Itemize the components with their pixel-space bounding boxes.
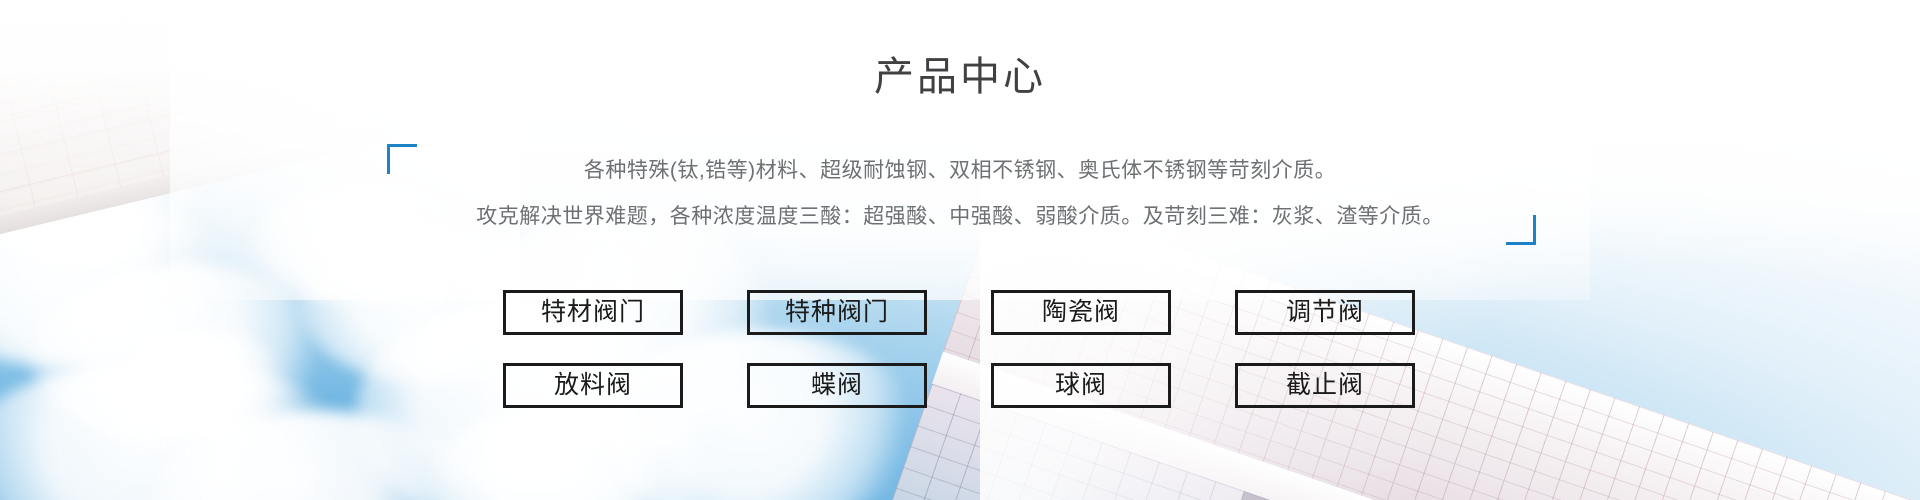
category-button-taoci-fa[interactable]: 陶瓷阀: [991, 290, 1171, 335]
description-line-2: 攻克解决世界难题，各种浓度温度三酸：超强酸、中强酸、弱酸介质。及苛刻三难：灰浆、…: [0, 194, 1920, 240]
category-button-die-fa[interactable]: 蝶阀: [747, 363, 927, 408]
category-button-fangliao-fa[interactable]: 放料阀: [503, 363, 683, 408]
category-button-tiaojie-fa[interactable]: 调节阀: [1235, 290, 1415, 335]
product-center-banner: 产品中心 各种特殊(钛,锆等)材料、超级耐蚀钢、双相不锈钢、奥氏体不锈钢等苛刻介…: [0, 0, 1920, 500]
category-row-2: 放料阀 蝶阀 球阀 截止阀: [503, 363, 1419, 408]
banner-content: 产品中心 各种特殊(钛,锆等)材料、超级耐蚀钢、双相不锈钢、奥氏体不锈钢等苛刻介…: [0, 0, 1920, 500]
description-line-1: 各种特殊(钛,锆等)材料、超级耐蚀钢、双相不锈钢、奥氏体不锈钢等苛刻介质。: [0, 148, 1920, 194]
category-button-tezhong-famen[interactable]: 特种阀门: [747, 290, 927, 335]
category-button-tecai-famen[interactable]: 特材阀门: [503, 290, 683, 335]
category-button-grid: 特材阀门 特种阀门 陶瓷阀 调节阀 放料阀 蝶阀 球阀 截止阀: [503, 290, 1419, 408]
description-block: 各种特殊(钛,锆等)材料、超级耐蚀钢、双相不锈钢、奥氏体不锈钢等苛刻介质。 攻克…: [0, 148, 1920, 240]
category-row-1: 特材阀门 特种阀门 陶瓷阀 调节阀: [503, 290, 1419, 335]
category-button-qiu-fa[interactable]: 球阀: [991, 363, 1171, 408]
page-title: 产品中心: [0, 50, 1920, 104]
category-button-jiezhi-fa[interactable]: 截止阀: [1235, 363, 1415, 408]
